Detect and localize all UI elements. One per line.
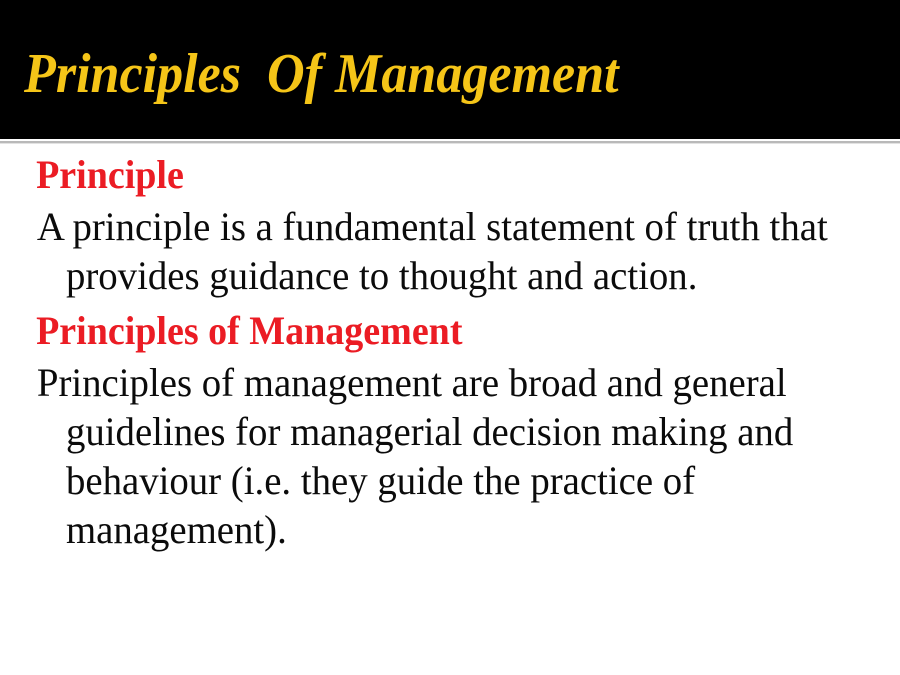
section-body-principles-of-management: Principles of management are broad and g… [0, 354, 873, 554]
section-heading-principle: Principle [0, 150, 855, 198]
page-title: Principles Of Management [24, 44, 675, 106]
section-principles-of-management: Principles of Management Principles of m… [0, 300, 900, 554]
section-heading-principles-of-management: Principles of Management [0, 300, 855, 354]
slide-content: Principle A principle is a fundamental s… [0, 150, 900, 675]
header-divider [0, 139, 900, 146]
presentation-slide: Principles Of Management Principle A pri… [0, 0, 900, 675]
slide-header-banner: Principles Of Management [0, 0, 900, 139]
section-principle: Principle A principle is a fundamental s… [0, 150, 900, 300]
section-body-principle: A principle is a fundamental statement o… [0, 198, 873, 300]
divider-rule-light [0, 143, 900, 144]
